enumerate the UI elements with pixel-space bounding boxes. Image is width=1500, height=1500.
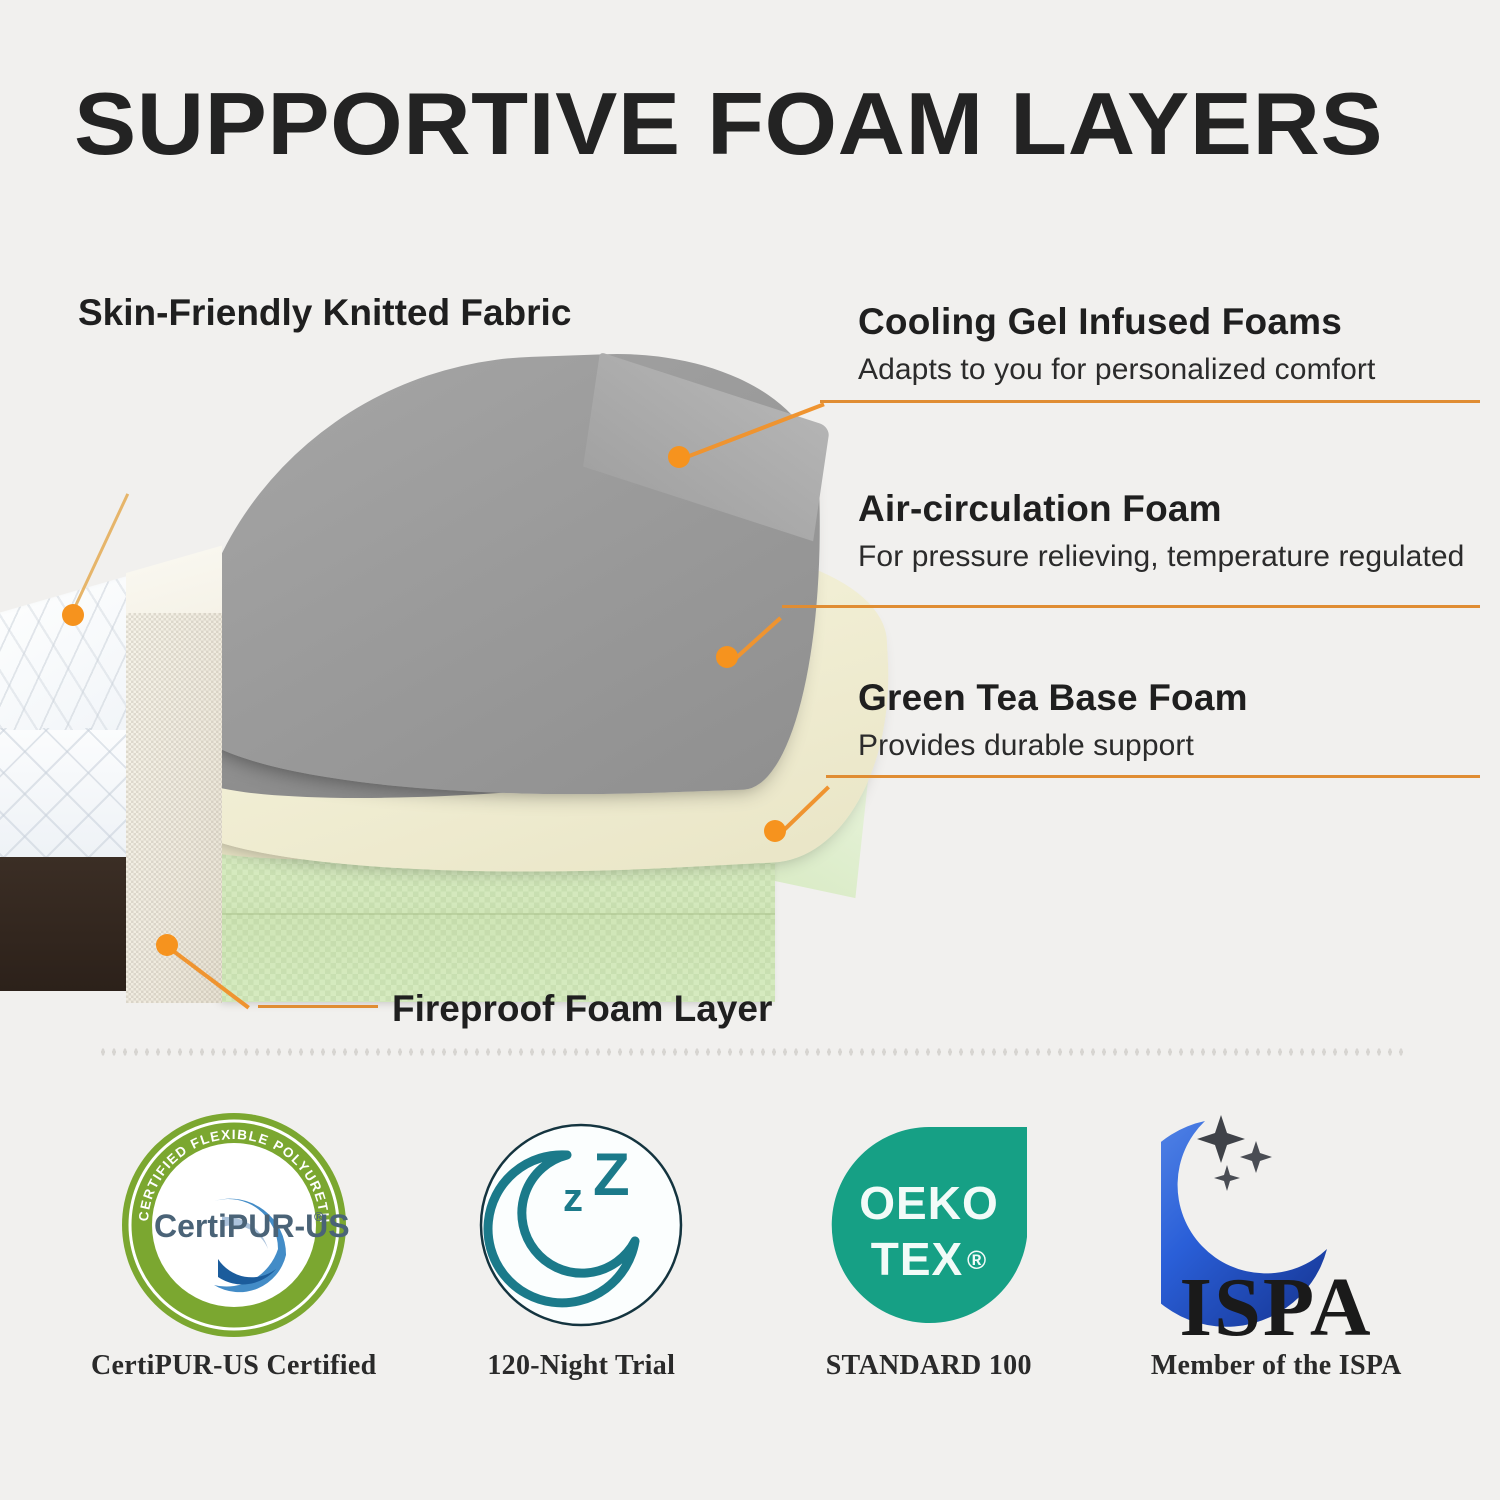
mattress-base-band [0, 857, 132, 991]
callout-rule-cooling-gel [820, 400, 1480, 403]
oeko-tex-logo: OEKO TEX ® [823, 1100, 1035, 1350]
leader-dot-air-circulation [716, 646, 738, 668]
zzz-small: z [563, 1176, 583, 1220]
oeko-tex-line1: OEKO [859, 1177, 998, 1229]
certipur-us-icon: CONTAINS CERTIFIED FLEXIBLE POLYURETHANE… [118, 1109, 350, 1341]
callout-rule-fireproof [258, 1005, 378, 1008]
star-large [1197, 1115, 1245, 1163]
leader-dot-skin-fabric [62, 604, 84, 626]
callout-subtitle-green-tea: Provides durable support [858, 728, 1478, 764]
star-small [1214, 1165, 1240, 1191]
section-divider [100, 1046, 1410, 1058]
badge-caption-120-night: 120-Night Trial [487, 1350, 675, 1382]
callout-cooling-gel: Cooling Gel Infused Foams Adapts to you … [858, 300, 1478, 388]
callout-title-cooling-gel: Cooling Gel Infused Foams [858, 300, 1478, 344]
ispa-icon: ISPA [1161, 1107, 1391, 1343]
badge-caption-oeko-tex: STANDARD 100 [826, 1350, 1032, 1382]
badge-ispa: ISPA Member of the ISPA [1103, 1100, 1451, 1430]
callout-title-green-tea: Green Tea Base Foam [858, 676, 1478, 720]
callout-rule-green-tea [826, 775, 1480, 778]
callout-title-air-circulation: Air-circulation Foam [858, 487, 1478, 531]
oeko-tex-line2: TEX [871, 1233, 963, 1285]
moon-zzz-icon: Z z [475, 1119, 687, 1331]
ispa-logo: ISPA [1161, 1100, 1391, 1350]
page-title: SUPPORTIVE FOAM LAYERS [74, 78, 1500, 170]
zzz-large: Z [593, 1141, 630, 1208]
badge-oeko-tex: OEKO TEX ® STANDARD 100 [755, 1100, 1103, 1430]
badge-120-night-trial: Z z 120-Night Trial [408, 1100, 756, 1430]
callout-subtitle-cooling-gel: Adapts to you for personalized comfort [858, 352, 1478, 388]
certipur-us-logo: CONTAINS CERTIFIED FLEXIBLE POLYURETHANE… [118, 1100, 350, 1350]
badge-caption-certipur: CertiPUR-US Certified [91, 1350, 376, 1382]
leader-dot-cooling-gel [668, 446, 690, 468]
leader-dot-fireproof [156, 934, 178, 956]
knitted-fabric-quilting [0, 728, 132, 858]
leader-dot-green-tea [764, 820, 786, 842]
callout-title-skin-fabric: Skin-Friendly Knitted Fabric [78, 292, 571, 334]
oeko-tex-icon: OEKO TEX ® [823, 1119, 1035, 1331]
green-tea-foam-seam [215, 913, 775, 915]
mattress-layer-illustration [0, 330, 1000, 1020]
oeko-tex-registered-mark: ® [967, 1245, 986, 1275]
star-medium [1240, 1141, 1272, 1173]
badge-caption-ispa: Member of the ISPA [1151, 1350, 1402, 1382]
moon-zzz-logo: Z z [475, 1100, 687, 1350]
ispa-wordmark: ISPA [1180, 1261, 1373, 1343]
callout-title-fireproof: Fireproof Foam Layer [392, 988, 772, 1030]
callout-air-circulation: Air-circulation Foam For pressure reliev… [858, 487, 1478, 575]
certification-badges: CONTAINS CERTIFIED FLEXIBLE POLYURETHANE… [60, 1100, 1450, 1430]
callout-green-tea: Green Tea Base Foam Provides durable sup… [858, 676, 1478, 764]
product-infographic: SUPPORTIVE FOAM LAYERS Skin-Friendly Kni… [0, 0, 1500, 1500]
certipur-registered-mark: ® [314, 1209, 324, 1224]
callout-rule-air-circulation [782, 605, 1480, 608]
callout-subtitle-air-circulation: For pressure relieving, temperature regu… [858, 539, 1478, 575]
badge-certipur-us: CONTAINS CERTIFIED FLEXIBLE POLYURETHANE… [60, 1100, 408, 1430]
